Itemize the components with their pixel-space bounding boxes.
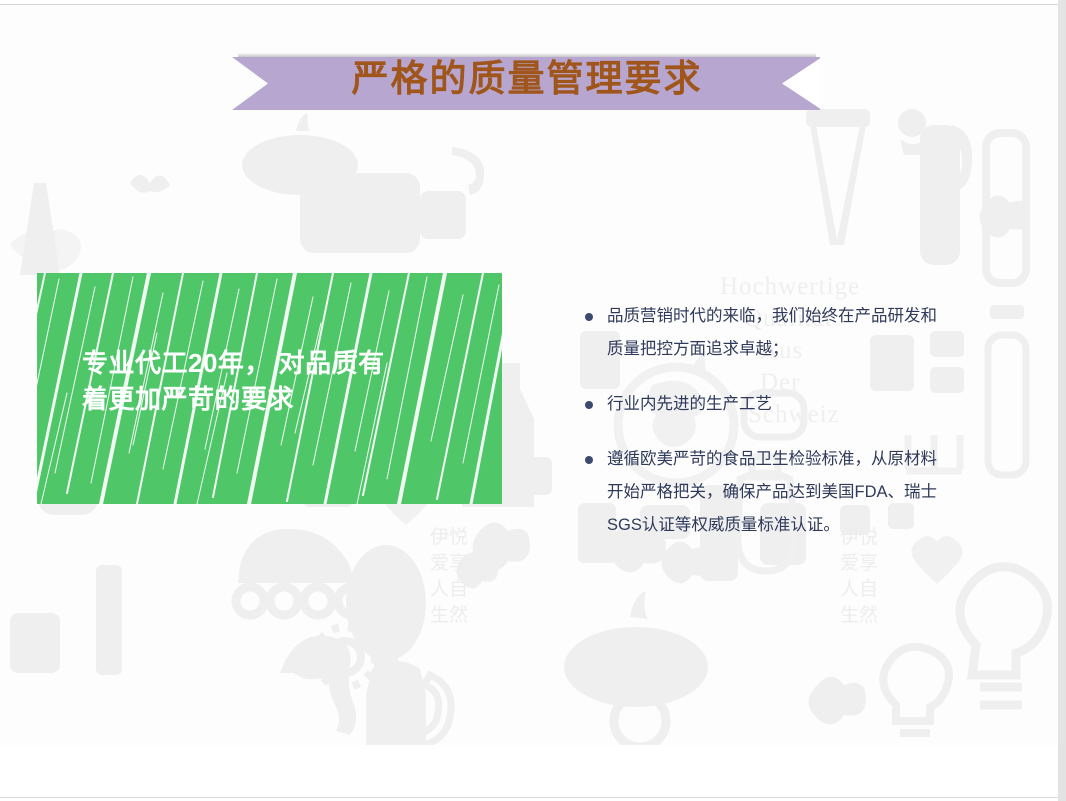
bullet-dot-icon (585, 313, 593, 321)
list-item: 遵循欧美严苛的食品卫生检验标准，从原材料 开始严格把关，确保产品达到美国FDA、… (583, 443, 993, 542)
list-item-line: 行业内先进的生产工艺 (607, 388, 993, 421)
lightbulb-icon (883, 647, 949, 733)
slide-canvas: Hochwertige Qualität Aus Der Schweiz 伊悦爱… (0, 5, 1058, 745)
heart-icon-2 (911, 536, 962, 584)
bullet-list: 品质营销时代的来临，我们始终在产品研发和 质量把控方面追求卓越； 行业内先进的生… (583, 300, 993, 542)
list-item-line: 品质营销时代的来临，我们始终在产品研发和 (607, 300, 993, 333)
horse-icon (280, 636, 356, 735)
tripod-icon (810, 125, 838, 245)
list-item-line: 开始严格把关，确保产品达到美国FDA、瑞士 (607, 476, 993, 509)
list-item-line: SGS认证等权威质量标准认证。 (607, 509, 993, 542)
list-item: 行业内先进的生产工艺 (583, 388, 993, 421)
beret-hat-icon (242, 135, 358, 195)
viewport-bottom-divider (0, 797, 1058, 798)
bullet-dot-icon (585, 456, 593, 464)
viewport-right-gutter (1058, 0, 1066, 801)
list-item-line: 遵循欧美严苛的食品卫生检验标准，从原材料 (607, 443, 993, 476)
watermark-text-line-1: Hochwertige (720, 273, 860, 301)
watermark-chinese-1: 伊悦爱享人自生然 (430, 525, 476, 629)
bow-icon (130, 175, 170, 193)
bullet-dot-icon (585, 401, 593, 409)
highlight-line-2: 着更加严苛的要求 (82, 384, 294, 414)
list-item: 品质营销时代的来临，我们始终在产品研发和 质量把控方面追求卓越； (583, 300, 993, 366)
highlight-panel: 专业代工20年， 对品质有 着更加严苛的要求 (37, 273, 502, 504)
highlight-panel-text: 专业代工20年， 对品质有 着更加严苛的要求 (82, 345, 482, 417)
list-item-line: 质量把控方面追求卓越； (607, 333, 993, 366)
page-title: 严格的质量管理要求 (232, 53, 822, 106)
slide-viewer: Hochwertige Qualität Aus Der Schweiz 伊悦爱… (0, 0, 1066, 801)
flower-icon-2 (808, 677, 866, 725)
lightbulb-icon-2 (960, 567, 1048, 705)
title-banner: 严格的质量管理要求 (232, 53, 822, 113)
highlight-line-1: 专业代工20年， 对品质有 (82, 348, 385, 378)
